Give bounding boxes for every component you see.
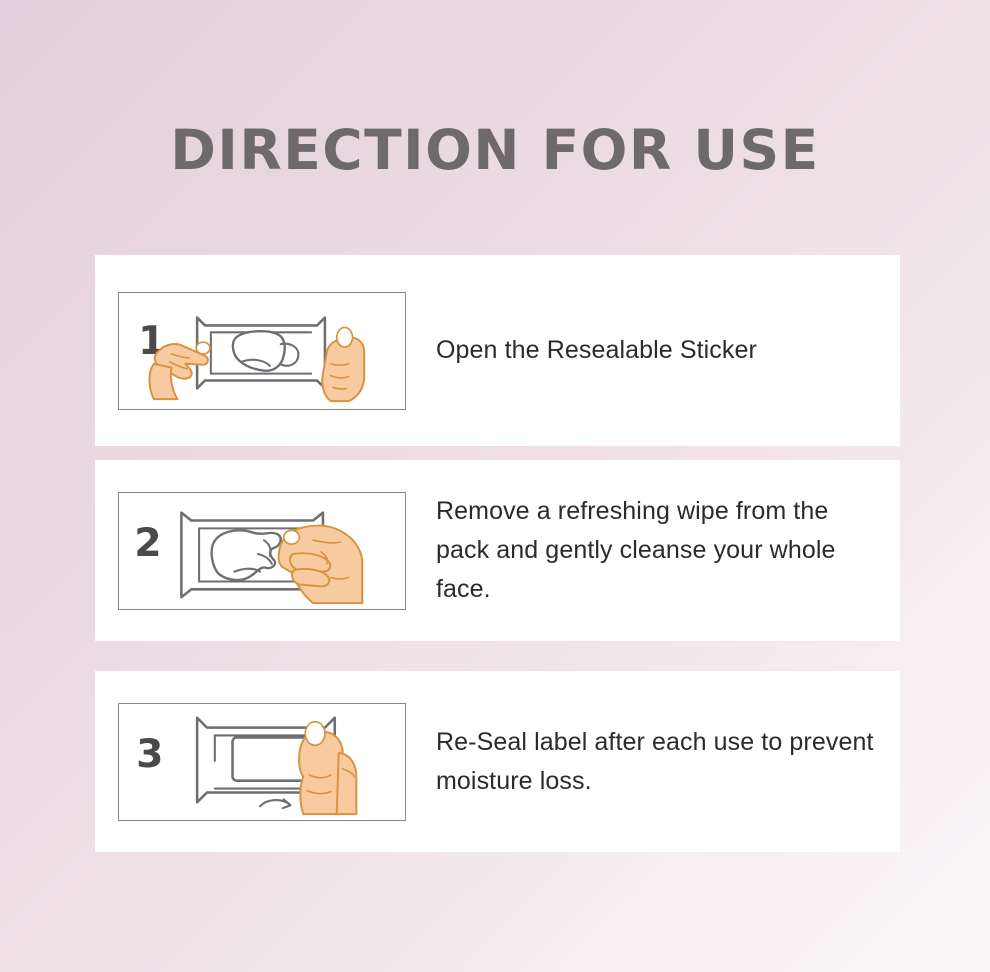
step-number-2: 2	[134, 520, 161, 565]
step-2-text: Remove a refreshing wipe from the pack a…	[436, 492, 876, 608]
step-card-3: 3 Re-Seal label after each use to preven…	[95, 671, 900, 852]
step-1-text: Open the Resealable Sticker	[436, 331, 757, 370]
step-3-text: Re-Seal label after each use to prevent …	[436, 723, 876, 801]
step-card-1: 1 Open the Reseal	[95, 255, 900, 446]
step-card-2: 2 Remove a refreshing wipe from the pack…	[95, 460, 900, 641]
step-1-illustration: 1	[118, 292, 406, 410]
step-2-illustration: 2	[118, 492, 406, 610]
step-3-illustration: 3	[118, 703, 406, 821]
step-number-3: 3	[136, 731, 163, 776]
page-title: DIRECTION FOR USE	[0, 118, 990, 182]
